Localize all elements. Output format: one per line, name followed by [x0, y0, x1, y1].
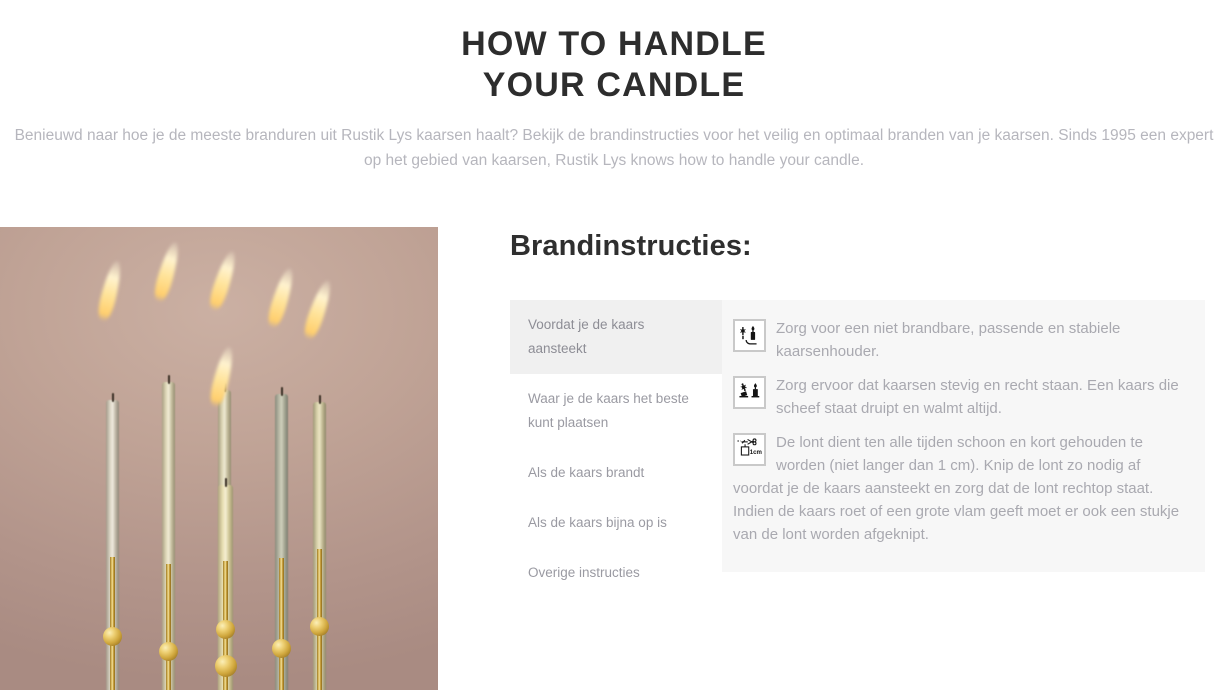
instruction-text: Zorg voor een niet brandbare, passende e… — [776, 320, 1120, 360]
holder-ball-3b — [215, 655, 237, 677]
flame-6 — [301, 278, 335, 342]
page-title: HOW TO HANDLE YOUR CANDLE — [0, 0, 1228, 106]
holder-cup-4 — [273, 524, 290, 560]
flame-3 — [206, 249, 239, 313]
holder-ball-4 — [272, 639, 291, 658]
instruction-item: 1cm De lont dient ten alle tijden schoon… — [733, 431, 1183, 546]
instructions-accordion: Voordat je de kaars aansteekt Waar je de… — [510, 300, 1205, 572]
trim-wick-1cm-icon: 1cm — [733, 433, 766, 466]
page-title-line-2: YOUR CANDLE — [0, 65, 1228, 106]
holder-stem-2 — [166, 564, 171, 690]
content-body: Brandinstructies: Voordat je de kaars aa… — [0, 227, 1228, 690]
flame-2 — [151, 240, 183, 304]
holder-cup-5 — [311, 515, 328, 551]
tab-als-de-kaars-bijna-op-is[interactable]: Als de kaars bijna op is — [510, 498, 722, 548]
holder-cup-3 — [215, 519, 236, 562]
instructions-panel: Zorg voor een niet brandbare, passende e… — [722, 300, 1205, 566]
tab-als-de-kaars-brandt[interactable]: Als de kaars brandt — [510, 448, 722, 498]
instruction-text: Zorg ervoor dat kaarsen stevig en recht … — [776, 377, 1179, 417]
holder-ball-3 — [216, 620, 235, 639]
flame-4 — [207, 345, 237, 409]
flame-1 — [95, 259, 125, 323]
instruction-item: Zorg voor een niet brandbare, passende e… — [733, 317, 1183, 363]
flame-5 — [265, 266, 297, 330]
holder-ball-5 — [310, 617, 329, 636]
holder-ball-1 — [103, 627, 122, 646]
tab-overige-instructies[interactable]: Overige instructies — [510, 548, 722, 598]
instruction-item: Zorg ervoor dat kaarsen stevig en recht … — [733, 374, 1183, 420]
candle-photo-image — [0, 227, 438, 690]
holder-stem-1 — [110, 557, 115, 690]
tab-voordat-je-de-kaars-aansteekt[interactable]: Voordat je de kaars aansteekt — [510, 300, 722, 374]
svg-text:1cm: 1cm — [750, 449, 763, 456]
holder-stem-4 — [279, 558, 284, 690]
section-title: Brandinstructies: — [510, 227, 1205, 263]
candleholder-stable-icon — [733, 319, 766, 352]
page-root: HOW TO HANDLE YOUR CANDLE Benieuwd naar … — [0, 0, 1228, 690]
holder-ball-2 — [159, 642, 178, 661]
tab-list: Voordat je de kaars aansteekt Waar je de… — [510, 300, 722, 550]
instruction-text: De lont dient ten alle tijden schoon en … — [733, 434, 1179, 543]
candle-photo — [0, 227, 438, 690]
candle-upright-icon — [733, 376, 766, 409]
tab-waar-je-de-kaars-het-beste-kunt-plaatsen[interactable]: Waar je de kaars het beste kunt plaatsen — [510, 374, 722, 448]
instructions-column: Brandinstructies: Voordat je de kaars aa… — [438, 227, 1228, 690]
page-title-line-1: HOW TO HANDLE — [0, 24, 1228, 65]
intro-paragraph: Benieuwd naar hoe je de meeste branduren… — [8, 106, 1220, 173]
holder-cup-1 — [104, 523, 121, 559]
holder-cup-2 — [160, 530, 177, 566]
